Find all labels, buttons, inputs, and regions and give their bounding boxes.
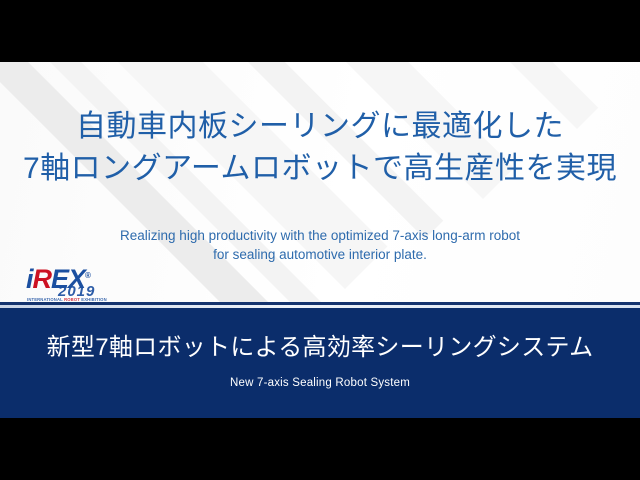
banner-headline-jp: 新型7軸ロボットによる高効率シーリングシステム xyxy=(0,332,640,364)
slide-title-line-2: 7軸ロングアームロボットで高生産性を実現 xyxy=(0,148,640,190)
video-frame: 自動車内板シーリングに最適化した 7軸ロングアームロボットで高生産性を実現 Re… xyxy=(0,0,640,480)
registered-trademark-icon: ® xyxy=(85,271,90,280)
slide-subtitle-line-1: Realizing high productivity with the opt… xyxy=(0,226,640,245)
lower-third-banner: 新型7軸ロボットによる高効率シーリングシステム New 7-axis Seali… xyxy=(0,308,640,418)
slide-subtitle: Realizing high productivity with the opt… xyxy=(0,226,640,264)
letterbox-bottom xyxy=(0,418,640,480)
slide-title-line-1: 自動車内板シーリングに最適化した xyxy=(0,106,640,148)
presentation-slide: 自動車内板シーリングに最適化した 7軸ロングアームロボットで高生産性を実現 Re… xyxy=(0,62,640,418)
letterbox-top xyxy=(0,0,640,62)
slide-title: 自動車内板シーリングに最適化した 7軸ロングアームロボットで高生産性を実現 xyxy=(0,62,640,190)
banner-headline-en: New 7-axis Sealing Robot System xyxy=(0,375,640,391)
irex-logo: iREX® 2019 INTERNATIONAL ROBOT EXHIBITIO… xyxy=(26,262,130,306)
irex-logo-letter-r: R xyxy=(33,264,52,294)
